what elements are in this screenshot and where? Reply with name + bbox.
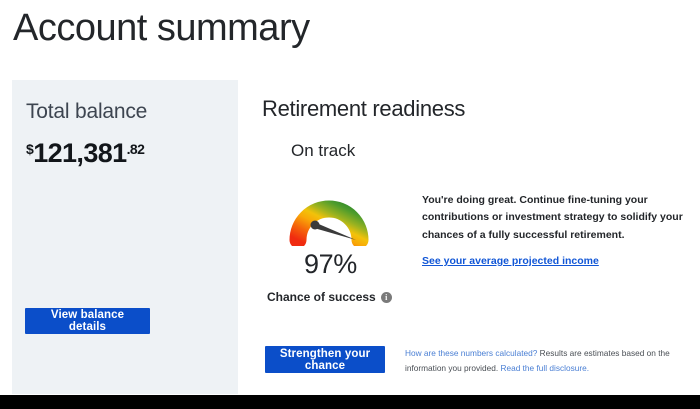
retirement-readiness-section: Retirement readiness On track — [262, 96, 700, 409]
balance-cents: .82 — [127, 141, 145, 157]
bottom-black-band — [0, 395, 700, 409]
total-balance-label: Total balance — [26, 100, 147, 124]
disclosure-text: How are these numbers calculated? Result… — [405, 346, 677, 375]
retirement-readiness-title: Retirement readiness — [262, 96, 465, 122]
total-balance-amount: $121,381.82 — [26, 138, 144, 169]
total-balance-panel: Total balance $121,381.82 View balance d… — [12, 80, 238, 394]
readiness-status-text: On track — [291, 141, 355, 161]
see-average-projected-income-link[interactable]: See your average projected income — [422, 255, 599, 267]
chance-of-success-gauge — [284, 176, 374, 246]
readiness-copy: You're doing great. Continue fine-tuning… — [422, 192, 687, 269]
balance-whole: 121,381 — [33, 138, 126, 168]
readiness-paragraph: You're doing great. Continue fine-tuning… — [422, 192, 687, 244]
info-icon[interactable]: i — [381, 292, 392, 303]
read-full-disclosure-link[interactable]: Read the full disclosure. — [500, 363, 589, 373]
strengthen-your-chance-button[interactable]: Strengthen your chance — [265, 346, 385, 373]
chance-of-success-label-text: Chance of success — [267, 290, 376, 304]
view-balance-details-button[interactable]: View balance details — [25, 308, 150, 334]
page-title: Account summary — [13, 8, 310, 50]
chance-of-success-value: 97% — [304, 249, 357, 280]
chance-of-success-label: Chance of success i — [267, 290, 392, 304]
how-are-numbers-calculated-link[interactable]: How are these numbers calculated? — [405, 348, 537, 358]
